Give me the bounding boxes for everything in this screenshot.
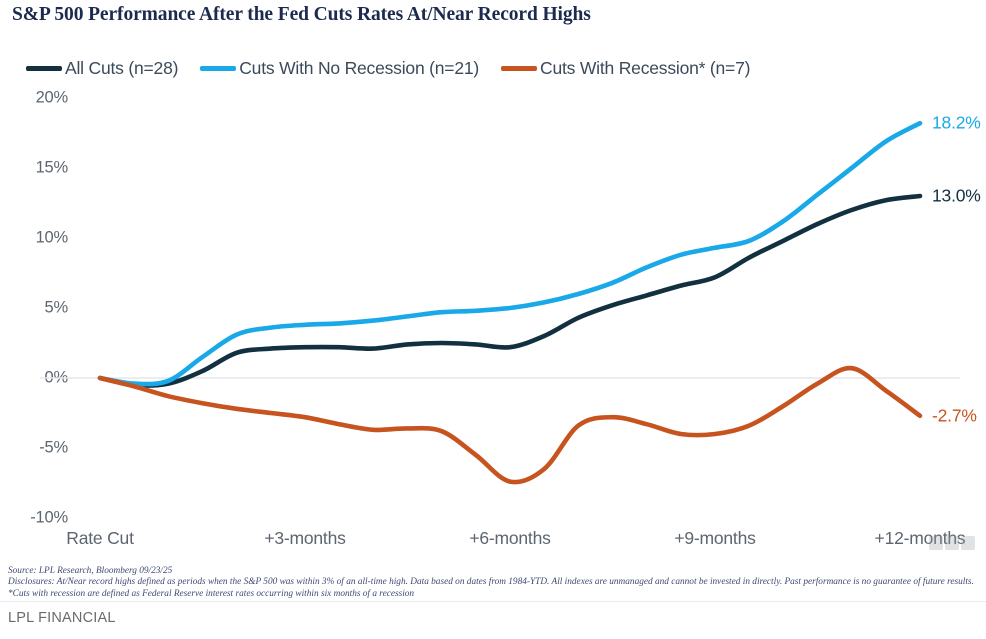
x-tick-label: Rate Cut bbox=[66, 528, 133, 549]
image-placeholder-icon bbox=[929, 536, 943, 550]
legend-label-no_recession: Cuts With No Recession (n=21) bbox=[239, 58, 479, 79]
image-placeholder-icon bbox=[945, 536, 959, 550]
image-placeholder-icon bbox=[961, 536, 975, 550]
legend-item-recession[interactable]: Cuts With Recession* (n=7) bbox=[501, 58, 750, 79]
legend-item-all_cuts[interactable]: All Cuts (n=28) bbox=[26, 58, 178, 79]
legend-swatch-recession bbox=[501, 66, 537, 71]
series-lines bbox=[0, 88, 986, 528]
legend-label-recession: Cuts With Recession* (n=7) bbox=[540, 58, 750, 79]
end-label-recession: -2.7% bbox=[932, 405, 977, 426]
legend-label-all_cuts: All Cuts (n=28) bbox=[65, 58, 178, 79]
footnote-asterisk: *Cuts with recession are defined as Fede… bbox=[8, 589, 983, 600]
footnote-source: Source: LPL Research, Bloomberg 09/23/25 bbox=[8, 566, 983, 577]
footer-divider bbox=[0, 601, 986, 602]
chart-legend: All Cuts (n=28)Cuts With No Recession (n… bbox=[26, 58, 772, 79]
x-axis: Rate Cut+3-months+6-months+9-months+12-m… bbox=[0, 528, 986, 568]
footnote-disclosures: Disclosures: At/Near record highs define… bbox=[8, 577, 983, 588]
legend-swatch-no_recession bbox=[200, 66, 236, 71]
x-tick-label: +3-months bbox=[264, 528, 345, 549]
footer-brand: LPL FINANCIAL bbox=[8, 610, 116, 626]
x-tick-label: +9-months bbox=[674, 528, 755, 549]
series-line-recession[interactable] bbox=[100, 368, 920, 482]
legend-swatch-all_cuts bbox=[26, 66, 62, 71]
image-placeholder-icons bbox=[929, 536, 977, 552]
chart-root: S&P 500 Performance After the Fed Cuts R… bbox=[0, 0, 986, 639]
plot-area: 20%15%10%5%0%-5%-10% 13.0%18.2%-2.7% Rat… bbox=[0, 88, 986, 528]
series-line-all_cuts[interactable] bbox=[100, 196, 920, 386]
legend-item-no_recession[interactable]: Cuts With No Recession (n=21) bbox=[200, 58, 479, 79]
end-label-no_recession: 18.2% bbox=[932, 113, 981, 134]
footnotes: Source: LPL Research, Bloomberg 09/23/25… bbox=[8, 566, 983, 600]
chart-title: S&P 500 Performance After the Fed Cuts R… bbox=[12, 4, 872, 26]
end-label-all_cuts: 13.0% bbox=[932, 186, 981, 207]
x-tick-label: +6-months bbox=[469, 528, 550, 549]
